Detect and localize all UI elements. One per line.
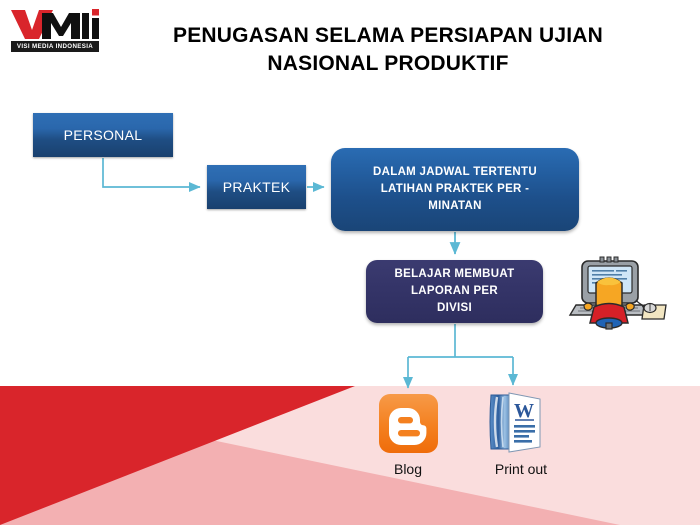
word-document-icon[interactable]: W bbox=[487, 390, 546, 454]
page-title-line-1: PENUGASAN SELAMA PERSIAPAN UJIAN bbox=[108, 22, 668, 50]
flow-node-praktek[interactable]: PRAKTEK bbox=[207, 165, 306, 209]
jadwal-line-2: LATIHAN PRAKTEK PER - bbox=[331, 181, 579, 198]
page-title-line-2: NASIONAL PRODUKTIF bbox=[108, 50, 668, 78]
company-logo: VISI MEDIA INDONESIA bbox=[9, 8, 101, 56]
svg-text:W: W bbox=[514, 400, 534, 422]
flow-node-jadwal-text: DALAM JADWAL TERTENTU LATIHAN PRAKTEK PE… bbox=[331, 164, 579, 215]
flow-node-praktek-label: PRAKTEK bbox=[207, 179, 306, 195]
jadwal-line-1: DALAM JADWAL TERTENTU bbox=[331, 164, 579, 181]
blogger-icon[interactable] bbox=[379, 394, 438, 453]
flow-node-personal-label: PERSONAL bbox=[33, 127, 173, 143]
belajar-line-1: BELAJAR MEMBUAT bbox=[366, 266, 543, 283]
flow-node-jadwal[interactable]: DALAM JADWAL TERTENTU LATIHAN PRAKTEK PE… bbox=[331, 148, 579, 231]
jadwal-line-3: MINATAN bbox=[331, 198, 579, 215]
person-at-computer-icon bbox=[566, 253, 670, 331]
flow-node-belajar[interactable]: BELAJAR MEMBUAT LAPORAN PER DIVISI bbox=[366, 260, 543, 323]
decorative-band bbox=[0, 386, 700, 525]
printout-caption: Print out bbox=[466, 461, 576, 477]
belajar-line-2: LAPORAN PER bbox=[366, 283, 543, 300]
flow-node-personal[interactable]: PERSONAL bbox=[33, 113, 173, 157]
flow-node-belajar-text: BELAJAR MEMBUAT LAPORAN PER DIVISI bbox=[366, 266, 543, 317]
blog-caption: Blog bbox=[358, 461, 458, 477]
logo-subtitle: VISI MEDIA INDONESIA bbox=[11, 41, 99, 52]
slide-canvas: VISI MEDIA INDONESIA PENUGASAN SELAMA PE… bbox=[0, 0, 700, 525]
page-title: PENUGASAN SELAMA PERSIAPAN UJIAN NASIONA… bbox=[108, 22, 668, 78]
vmii-logo-icon bbox=[9, 8, 101, 40]
belajar-line-3: DIVISI bbox=[366, 300, 543, 317]
connector-personal-to-praktek bbox=[103, 158, 200, 187]
